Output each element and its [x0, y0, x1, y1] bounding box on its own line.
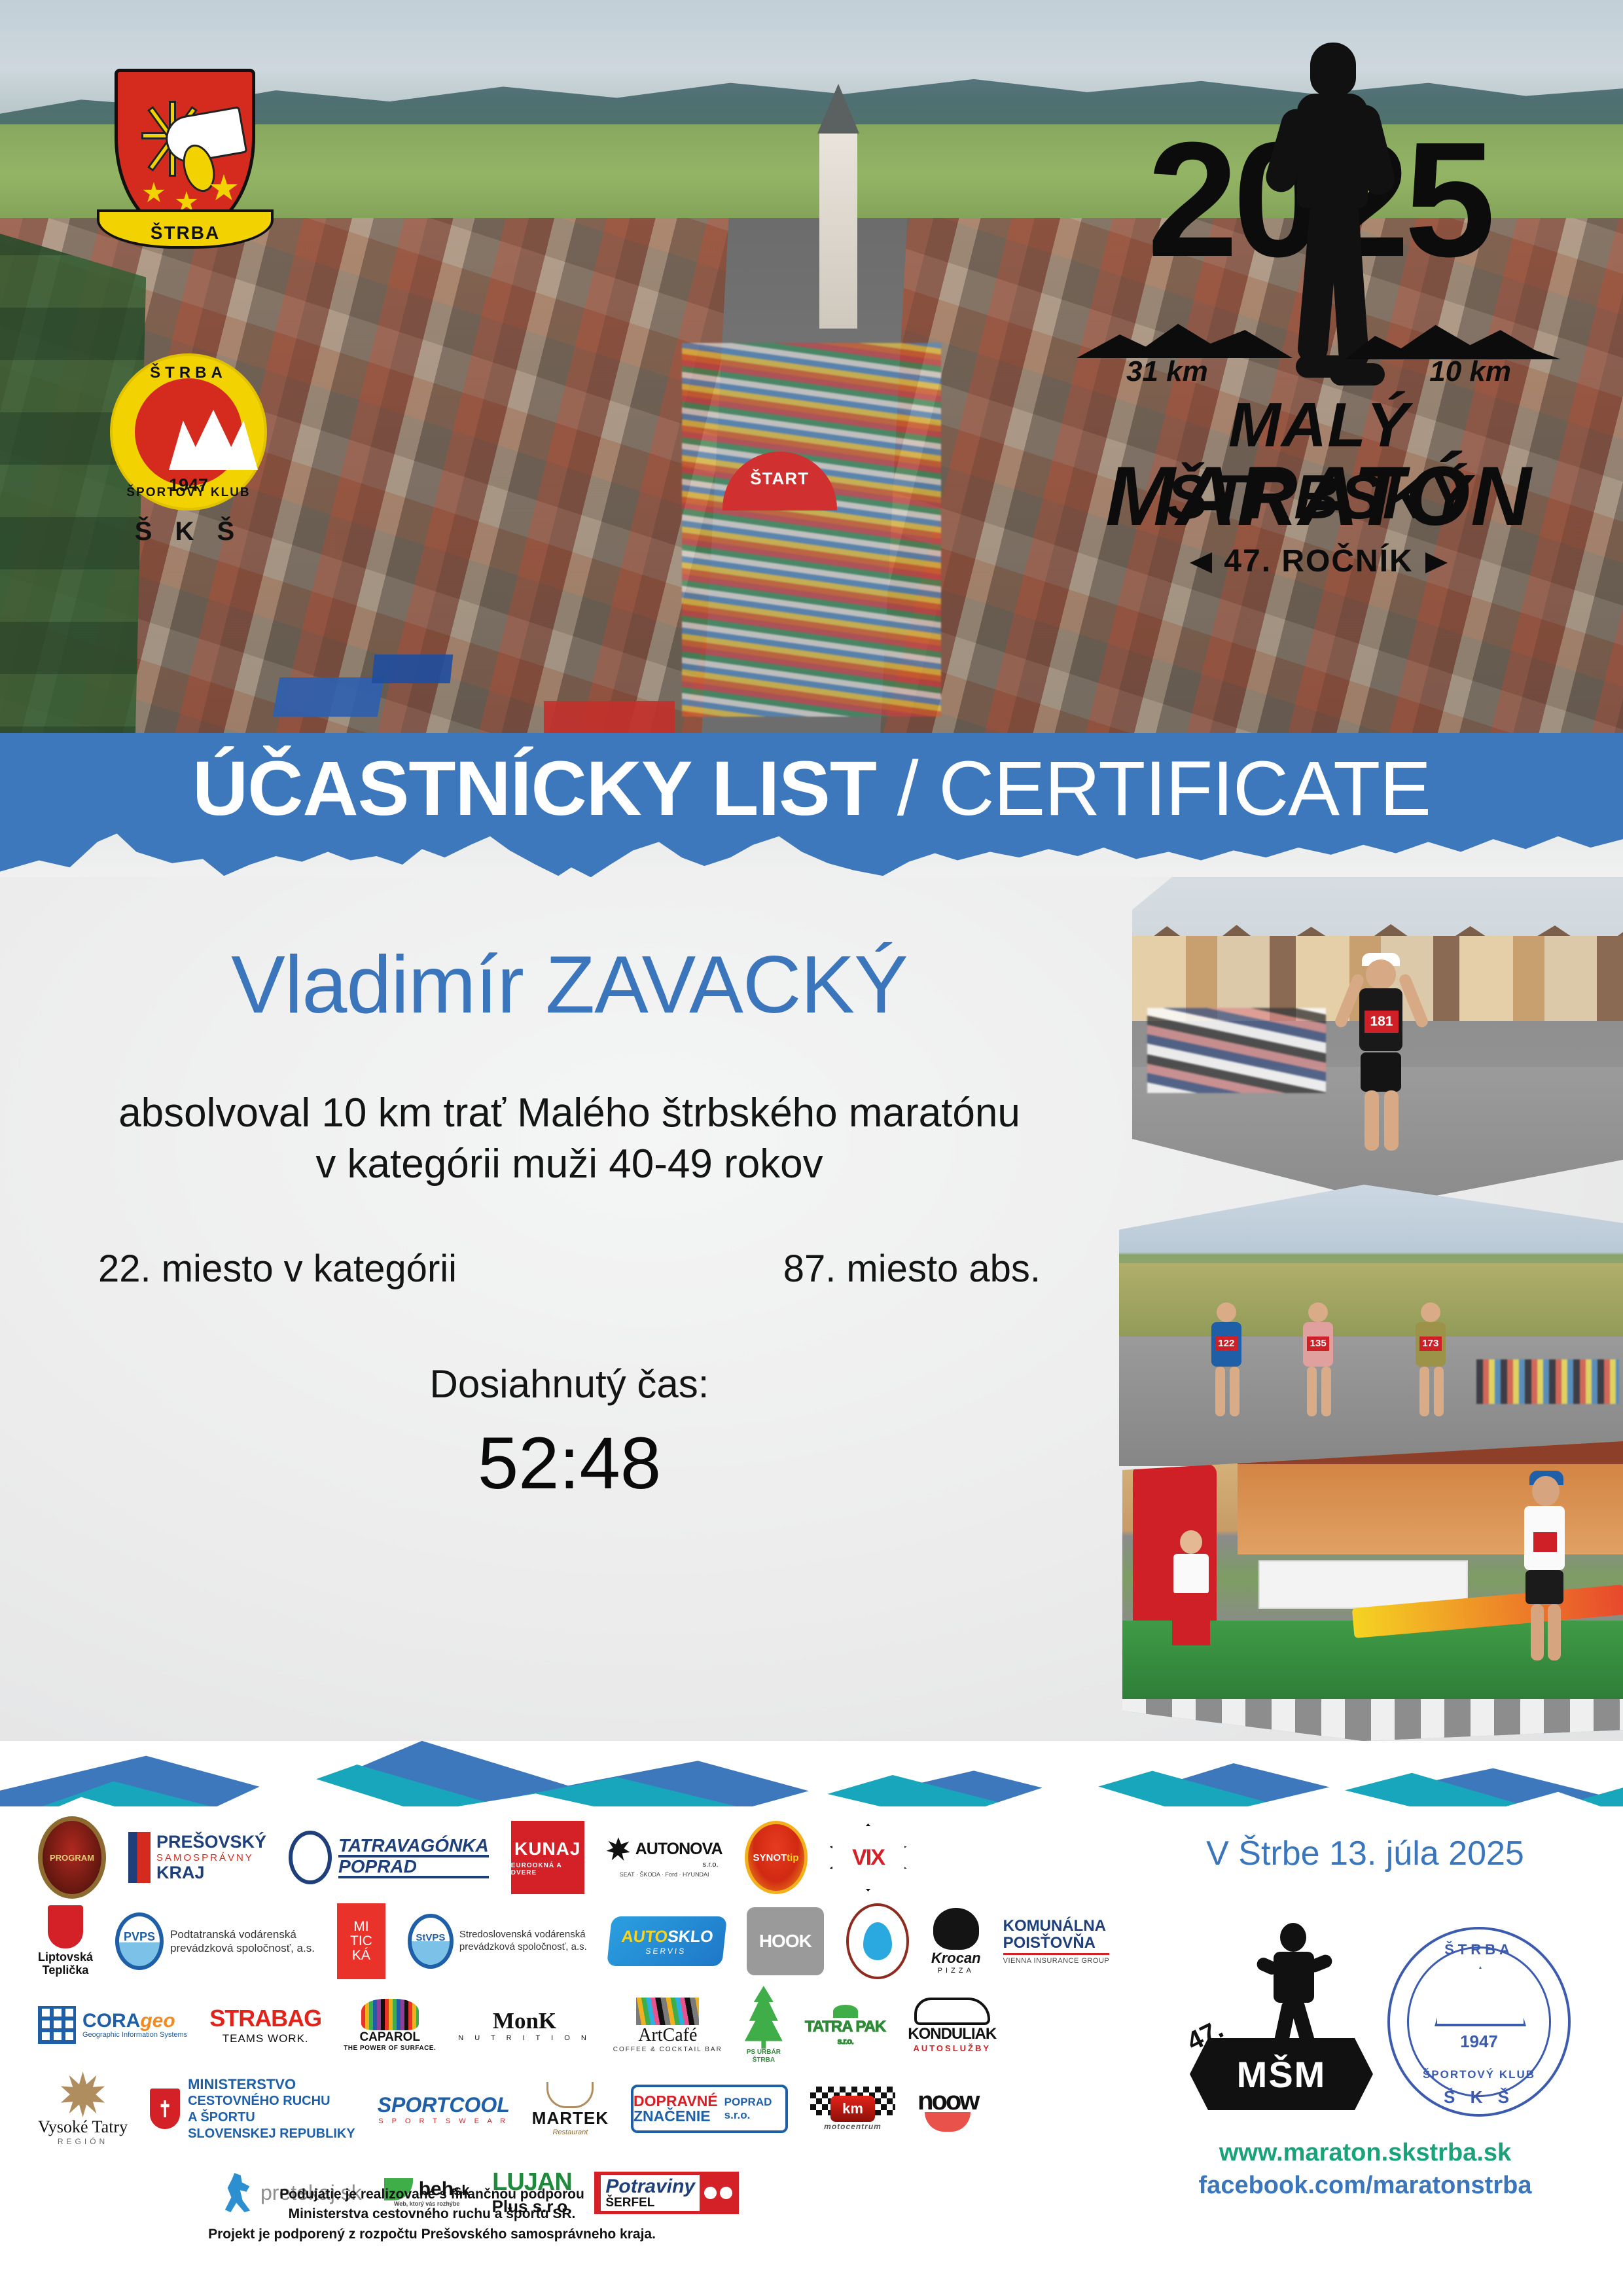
certificate-page: ŠTRBA ŠTRBA 1947 ŠPORTOVÝ KLUB Š K Š 202…: [0, 0, 1623, 2296]
title-en: CERTIFICATE: [938, 745, 1431, 832]
sponsor-tatrapak: TATRA PAK s.r.o.: [805, 1987, 885, 2063]
sponsor-hook: HOOK: [747, 1903, 824, 1979]
placement-row: 22. miesto v kategórii 87. miesto abs.: [0, 1247, 1139, 1291]
pvps-oval-icon: PVPS: [115, 1912, 164, 1970]
stamp-bottom-label: ŠPORTOVÝ KLUB: [1390, 2068, 1568, 2081]
club-stamp-icon: ŠTRBA 1947 ŠPORTOVÝ KLUB Š K Š: [1387, 1927, 1571, 2117]
stamp-abbrev-label: Š K Š: [1390, 2087, 1568, 2108]
photo-finishing-runner: 181: [1132, 877, 1623, 1204]
church-tower: [819, 132, 857, 329]
place-absolute: 87. miesto abs.: [783, 1247, 1041, 1291]
description-line2: v kategórii muži 40-49 rokov: [0, 1139, 1139, 1190]
edelweiss-icon: [60, 2072, 106, 2117]
sport-club-logo-icon: ŠTRBA 1947 ŠPORTOVÝ KLUB: [110, 353, 267, 511]
sponsor-tatravagonka-poprad: TATRAVAGÓNKA POPRAD: [289, 1820, 489, 1895]
msm-logo-icon: 47. MŠM: [1183, 1923, 1380, 2113]
title-sk: ÚČASTNÍCKY LIST: [192, 745, 876, 832]
miticka-logo-icon: MI TIC KÁ: [337, 1903, 385, 1979]
event-logo: 2025 31 km 10 km MALÝ ŠTRBSKÝ MARATÓN 47…: [1070, 36, 1567, 592]
support-note-line3: Projekt je podporený z rozpočtu Prešovsk…: [72, 2225, 792, 2244]
sponsor-noow: noow: [918, 2071, 978, 2147]
crest-ribbon-label: ŠTRBA: [151, 223, 220, 243]
support-note: Podujatie je realizované s finančnou pod…: [72, 2185, 792, 2244]
sponsor-row-4: Vysoké Tatry REGIÓN MINISTERSTVO CESTOVN…: [26, 2071, 1132, 2147]
club-inner-disc: 1947: [135, 378, 242, 486]
sponsor-strabag: STRABAG TEAMS WORK.: [209, 1987, 321, 2063]
gift-bow-icon: [833, 2005, 858, 2018]
sponsor-autonova: AUTONOVA s.r.o. SEAT · ŠKODA · Ford · HY…: [607, 1820, 722, 1895]
race-crowd: [682, 343, 942, 717]
club-abbrev-label: Š K Š: [110, 517, 267, 547]
finish-time-value: 52:48: [0, 1421, 1139, 1505]
photo-collage: 181 122 135 173: [1099, 877, 1623, 1748]
car-outline-icon: [914, 1998, 990, 2025]
description-line1: absolvoval 10 km trať Malého štrbského m…: [0, 1088, 1139, 1139]
photo2-bib-3: 173: [1419, 1336, 1442, 1351]
red-tent: [544, 701, 675, 734]
place-in-category: 22. miesto v kategórii: [98, 1247, 457, 1291]
slovak-crest-icon: [150, 2089, 180, 2129]
sponsor-km-motocentrum: km motocentrum: [810, 2071, 895, 2147]
title-banner: ÚČASTNÍCKY LIST / CERTIFICATE: [0, 733, 1623, 890]
sponsor-stvps: StVPS Stredoslovenská vodárenskáprevádzk…: [408, 1903, 587, 1979]
photo2-bib-1: 122: [1215, 1336, 1238, 1351]
sponsor-corageo: CORAgeo Geographic Information Systems: [38, 1987, 187, 2063]
sponsor-vix: VIX: [830, 1820, 907, 1895]
facebook-link[interactable]: facebook.com/maratonstrba: [1136, 2172, 1594, 2200]
sponsor-caparol: CAPAROL THE POWER OF SURFACE.: [344, 1987, 436, 2063]
artcafe-bars-icon: [636, 1998, 699, 2025]
stvps-oval-icon: StVPS: [408, 1914, 454, 1969]
msm-abbrev-label: MŠM: [1237, 2053, 1327, 2096]
footer: PROGRAM PREŠOVSKÝ SAMOSPRÁVNY KRAJ: [0, 1806, 1623, 2296]
photo-runners-on-course: 122 135 173: [1119, 1185, 1623, 1466]
tree-icon: [745, 1986, 783, 2049]
glassware-icon: [546, 2082, 594, 2108]
blue-tent-2: [372, 655, 454, 683]
hook-logo-icon: HOOK: [747, 1907, 824, 1975]
sponsor-liptovska-teplicka: LiptovskáTeplička: [38, 1903, 93, 1979]
certificate-text-column: Vladimír ZAVACKÝ absolvoval 10 km trať M…: [0, 942, 1139, 1505]
distance-right-label: 10 km: [1429, 355, 1511, 388]
sponsor-row-1: PROGRAM PREŠOVSKÝ SAMOSPRÁVNY KRAJ: [26, 1820, 1132, 1895]
photo2-bib-2: 135: [1307, 1336, 1329, 1351]
time-label: Dosiahnutý čas:: [0, 1361, 1139, 1407]
event-edition-label: 47. ROČNÍK: [1224, 544, 1413, 579]
blue-tent: [272, 677, 384, 717]
mountain-silhouettes-icon: 31 km 10 km: [1070, 306, 1567, 378]
burst-icon: [607, 1837, 630, 1861]
sponsor-presovsky-kraj: PREŠOVSKÝ SAMOSPRÁVNY KRAJ: [128, 1820, 266, 1895]
program-logo-icon: PROGRAM: [38, 1816, 106, 1899]
event-edition-row: 47. ROČNÍK: [1070, 543, 1567, 579]
triangle-left-icon: [1190, 552, 1212, 573]
sponsor-sportcool: SPORTCOOL S P O R T S W E A R: [378, 2071, 510, 2147]
sponsor-program-trencin: PROGRAM: [38, 1820, 106, 1895]
corageo-grid-icon: [38, 2006, 76, 2044]
triangle-right-icon: [1425, 552, 1448, 573]
sponsor-row-2: LiptovskáTeplička PVPS Podtatranská vodá…: [26, 1903, 1132, 1979]
sponsor-pvps: PVPS Podtatranská vodárenskáprevádzková …: [115, 1903, 315, 1979]
sponsor-vysoke-tatry: Vysoké Tatry REGIÓN: [38, 2071, 128, 2147]
smile-icon: [925, 2112, 971, 2132]
mountain-peaks-icon: [169, 410, 258, 470]
sponsor-miticka: MI TIC KÁ: [337, 1903, 385, 1979]
sponsor-komunalna-poistovna: KOMUNÁLNA POISŤOVŇA VIENNA INSURANCE GRO…: [1003, 1903, 1110, 1979]
sponsor-ministerstvo: MINISTERSTVO CESTOVNÉHO RUCHU A ŠPORTU S…: [150, 2071, 355, 2147]
sponsor-kunaj: KUNAJ EUROOKNÁ A DVERE: [511, 1820, 584, 1895]
support-note-line2: Ministerstva cestovného ruchu a športu S…: [72, 2204, 792, 2224]
sponsor-konduliak: KONDULIAK AUTOSLUŽBY: [908, 1987, 996, 2063]
stamp-year-label: 1947: [1390, 2032, 1568, 2052]
page-title: ÚČASTNÍCKY LIST / CERTIFICATE: [0, 750, 1623, 827]
event-name-line2: MARATÓN: [1070, 448, 1567, 545]
liptovska-crest-icon: [48, 1905, 83, 1948]
club-bottom-label: ŠPORTOVÝ KLUB: [113, 486, 264, 500]
sponsor-monk-nutrition: MonK N U T R I T I O N: [458, 1987, 591, 2063]
support-note-line1: Podujatie je realizované s finančnou pod…: [72, 2185, 792, 2204]
tatravagonka-oval-icon: [289, 1831, 332, 1884]
distance-left-label: 31 km: [1126, 355, 1208, 388]
synot-oval-icon: SYNOTtip: [745, 1821, 808, 1894]
sponsor-autosklo-servis: AUTOSKLO SERVIS: [609, 1903, 724, 1979]
sponsor-ps-urbar-strba: PS URBÁRŠTRBA: [745, 1987, 783, 2063]
turkey-icon: [933, 1908, 979, 1950]
photo1-bib-number: 181: [1364, 1011, 1399, 1033]
sponsor-krocan-pizza: Krocan PIZZA: [931, 1903, 981, 1979]
website-link[interactable]: www.maraton.skstrba.sk: [1136, 2139, 1594, 2167]
caparol-elephant-icon: [361, 1999, 419, 2030]
date-location: V Štrbe 13. júla 2025: [1136, 1834, 1594, 1873]
stamp-top-label: ŠTRBA: [1390, 1941, 1568, 1958]
certificate-description: absolvoval 10 km trať Malého štrbského m…: [0, 1088, 1139, 1189]
vix-star-icon: VIX: [830, 1823, 907, 1892]
sponsor-synot-tip: SYNOTtip: [745, 1820, 808, 1895]
pd-strba-seal-icon: [846, 1903, 909, 1979]
sponsor-row-3: CORAgeo Geographic Information Systems S…: [26, 1987, 1132, 2063]
footer-right-block: V Štrbe 13. júla 2025 47. MŠM ŠTRBA 1947…: [1136, 1818, 1594, 2276]
presov-flag-icon: [128, 1832, 151, 1883]
sponsor-dopravne-znacenie: DOPRAVNÉ ZNAČENIE POPRAD s.r.o.: [631, 2071, 788, 2147]
left-trees: [0, 234, 146, 779]
sponsor-martek: MARTEK Restaurant: [532, 2071, 609, 2147]
title-separator: /: [876, 745, 938, 832]
sponsor-artcafe: ArtCafé COFFEE & COCKTAIL BAR: [613, 1987, 722, 2063]
star-icon: [143, 182, 165, 204]
sponsor-pd-strba: [846, 1903, 909, 1979]
participant-name: Vladimír ZAVACKÝ: [0, 942, 1139, 1028]
